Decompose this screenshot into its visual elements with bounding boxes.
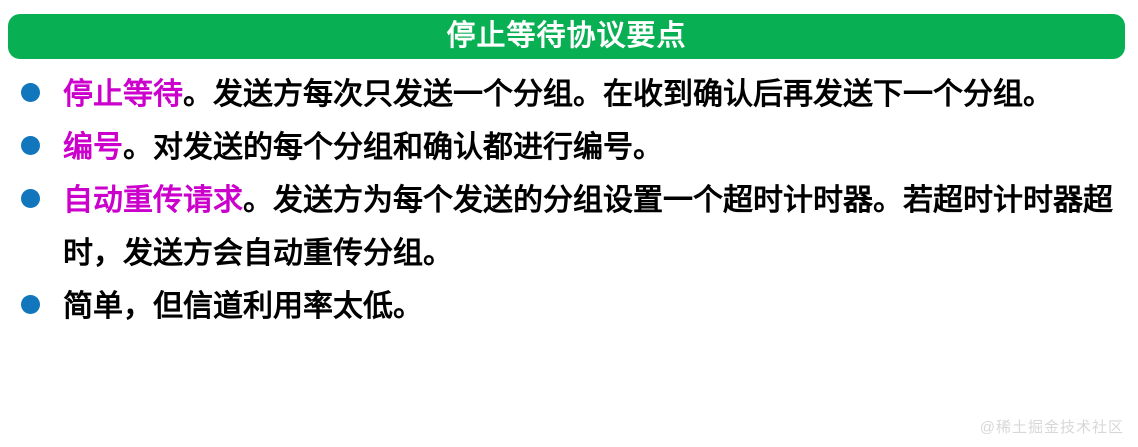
slide-title-bar: 停止等待协议要点 [8, 14, 1125, 59]
list-item-body: 。对发送的每个分组和确认都进行编号。 [123, 131, 663, 164]
list-item: 停止等待。发送方每次只发送一个分组。在收到确认后再发送下一个分组。 [0, 68, 1138, 121]
bullet-list: 停止等待。发送方每次只发送一个分组。在收到确认后再发送下一个分组。 编号。对发送… [0, 68, 1138, 333]
list-item: 编号。对发送的每个分组和确认都进行编号。 [0, 121, 1138, 174]
list-item-body: 简单，但信道利用率太低。 [63, 290, 423, 323]
page-title: 停止等待协议要点 [446, 22, 686, 51]
list-item-text: 简单，但信道利用率太低。 [63, 280, 1130, 333]
list-item-keyword: 编号 [63, 131, 123, 164]
bullet-dot-icon [21, 189, 40, 208]
bullet-dot-icon [21, 295, 40, 314]
list-item-text: 编号。对发送的每个分组和确认都进行编号。 [63, 121, 1130, 174]
bullet-dot-icon [21, 136, 40, 155]
list-item-text: 停止等待。发送方每次只发送一个分组。在收到确认后再发送下一个分组。 [63, 68, 1130, 121]
list-item-body: 。发送方每次只发送一个分组。在收到确认后再发送下一个分组。 [183, 78, 1053, 111]
list-item-keyword: 停止等待 [63, 78, 183, 111]
slide-root: 停止等待协议要点 停止等待。发送方每次只发送一个分组。在收到确认后再发送下一个分… [0, 0, 1138, 447]
list-item-text: 自动重传请求。发送方为每个发送的分组设置一个超时计时器。若超时计时器超时，发送方… [63, 174, 1130, 280]
bullet-dot-icon [21, 83, 40, 102]
watermark: @稀土掘金技术社区 [980, 416, 1124, 437]
list-item: 简单，但信道利用率太低。 [0, 280, 1138, 333]
list-item-keyword: 自动重传请求 [63, 184, 243, 217]
list-item: 自动重传请求。发送方为每个发送的分组设置一个超时计时器。若超时计时器超时，发送方… [0, 174, 1138, 280]
